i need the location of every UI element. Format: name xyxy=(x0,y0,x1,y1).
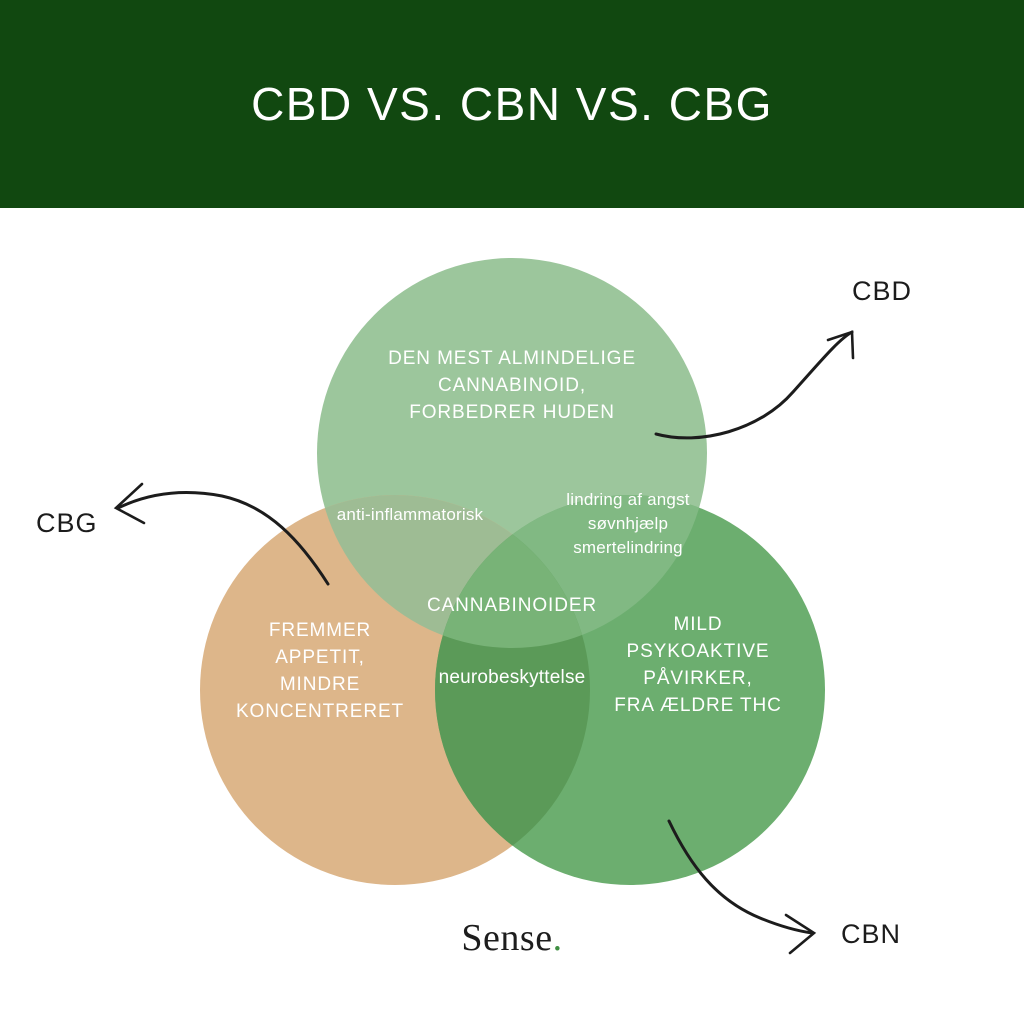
brand-logo-dot: . xyxy=(553,917,563,959)
page-title: CBD VS. CBN VS. CBG xyxy=(0,0,1024,208)
infographic-page: CBD VS. CBN VS. CBG xyxy=(0,0,1024,1024)
callout-label-cbg: CBG xyxy=(36,508,98,539)
brand-logo: Sense. xyxy=(0,916,1024,960)
callout-label-cbd: CBD xyxy=(852,276,912,307)
venn-diagram: DEN MEST ALMINDELIGE CANNABINOID, FORBED… xyxy=(0,208,1024,1024)
header-bar: CBD VS. CBN VS. CBG xyxy=(0,0,1024,208)
brand-logo-text: Sense xyxy=(461,917,552,959)
venn-shapes xyxy=(0,208,1024,1024)
